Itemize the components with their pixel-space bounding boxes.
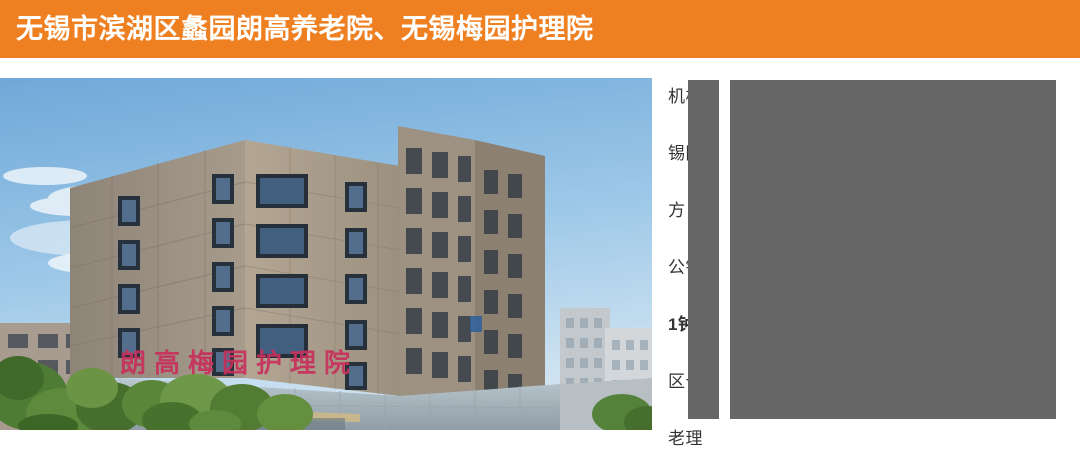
redaction-overlay-wide bbox=[730, 80, 1056, 419]
redaction-overlay-narrow bbox=[688, 80, 719, 419]
building-sign-text: 朗高梅园护理院 bbox=[120, 348, 358, 378]
description-line-7: 老理 bbox=[668, 428, 1060, 450]
page-header: 无锡市滨湖区蠡园朗高养老院、无锡梅园护理院 bbox=[0, 0, 1080, 58]
facility-photo-image: 朗高梅园护理院 bbox=[0, 78, 652, 430]
page-title: 无锡市滨湖区蠡园朗高养老院、无锡梅园护理院 bbox=[16, 16, 594, 43]
facility-photo: 朗高梅园护理院 bbox=[0, 78, 652, 430]
